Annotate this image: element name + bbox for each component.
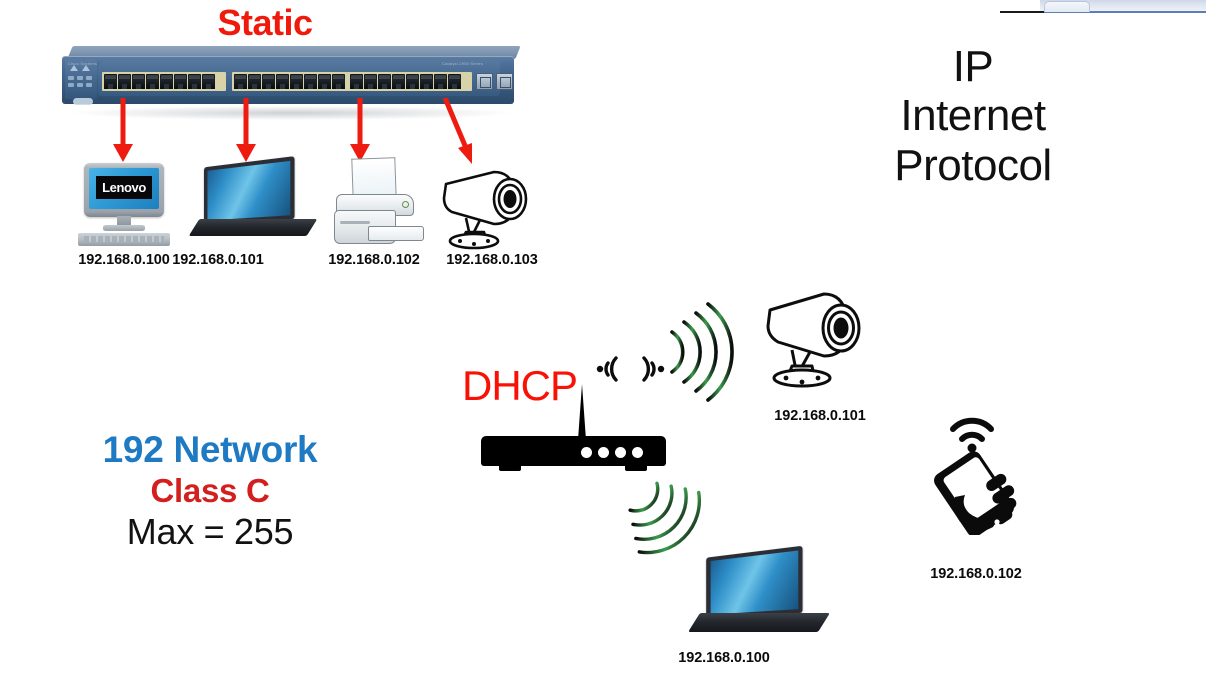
slide-canvas: Static IP Internet Protocol Cisco System… bbox=[0, 0, 1206, 684]
switch-led-2 bbox=[77, 76, 83, 80]
laptop-icon bbox=[192, 162, 318, 250]
router-foot-left bbox=[499, 465, 521, 471]
cctv-camera-icon bbox=[762, 284, 872, 396]
router-led bbox=[632, 447, 643, 458]
switch-led-5 bbox=[77, 83, 83, 87]
switch-port[interactable] bbox=[202, 74, 215, 89]
ip-label-laptop-dhcp: 192.168.0.100 bbox=[634, 650, 814, 666]
printer-icon bbox=[324, 158, 430, 250]
printer-output-tray bbox=[368, 226, 424, 241]
switch-port[interactable] bbox=[234, 74, 247, 89]
switch-led-3 bbox=[86, 76, 92, 80]
switch-port[interactable] bbox=[276, 74, 289, 89]
switch-uplink-port-2[interactable] bbox=[496, 73, 513, 90]
switch-model-label: Catalyst 2950 Series bbox=[442, 61, 483, 66]
desktop-computer-icon: Lenovo bbox=[72, 163, 176, 248]
switch-port[interactable] bbox=[364, 74, 377, 89]
connection-arrow-laptop bbox=[231, 98, 261, 164]
browser-tab[interactable] bbox=[1044, 1, 1090, 12]
phone-in-hand-icon bbox=[925, 405, 1030, 535]
printer-power-button[interactable] bbox=[402, 201, 409, 208]
switch-uplink-port-1[interactable] bbox=[476, 73, 493, 90]
connection-arrow-printer bbox=[345, 98, 375, 164]
ip-label-phone: 192.168.0.102 bbox=[896, 566, 1056, 582]
switch-port[interactable] bbox=[290, 74, 303, 89]
switch-brand-label: Cisco Systems bbox=[68, 61, 97, 66]
switch-port[interactable] bbox=[406, 74, 419, 89]
lenovo-brand-label: Lenovo bbox=[102, 180, 146, 195]
router-led bbox=[598, 447, 609, 458]
ip-expansion-block: IP Internet Protocol bbox=[838, 42, 1108, 190]
switch-port[interactable] bbox=[304, 74, 317, 89]
switch-port-group-1[interactable] bbox=[102, 72, 226, 91]
switch-port[interactable] bbox=[132, 74, 145, 89]
switch-port-group-3[interactable] bbox=[348, 72, 472, 91]
switch-port[interactable] bbox=[448, 74, 461, 89]
switch-port[interactable] bbox=[420, 74, 433, 89]
laptop-icon bbox=[692, 552, 830, 648]
printer-output-slot bbox=[340, 221, 370, 224]
ip-label-laptop-static: 192.168.0.101 bbox=[138, 252, 298, 268]
router-led bbox=[615, 447, 626, 458]
laptop-base bbox=[189, 219, 318, 236]
switch-port[interactable] bbox=[318, 74, 331, 89]
switch-port[interactable] bbox=[332, 74, 345, 89]
switch-port[interactable] bbox=[262, 74, 275, 89]
laptop-screen bbox=[207, 161, 290, 221]
max-hosts-line: Max = 255 bbox=[55, 511, 365, 553]
class-c-line: Class C bbox=[55, 472, 365, 511]
connection-arrow-desktop bbox=[108, 98, 138, 164]
class-info-block: 192 Network Class C Max = 255 bbox=[55, 428, 365, 553]
switch-port[interactable] bbox=[434, 74, 447, 89]
ip-expansion-line-2: Internet bbox=[838, 91, 1108, 140]
static-heading: Static bbox=[190, 2, 340, 44]
switch-port[interactable] bbox=[160, 74, 173, 89]
laptop-base bbox=[688, 613, 830, 632]
router-antenna bbox=[578, 384, 586, 440]
switch-port[interactable] bbox=[378, 74, 391, 89]
monitor-stand-base bbox=[103, 225, 145, 231]
wifi-waves-to-laptop bbox=[608, 468, 706, 558]
ip-label-camera-static: 192.168.0.103 bbox=[412, 252, 572, 268]
ip-expansion-line-3: Protocol bbox=[838, 141, 1108, 190]
lenovo-logo-plate: Lenovo bbox=[96, 176, 152, 199]
switch-port[interactable] bbox=[392, 74, 405, 89]
switch-port[interactable] bbox=[146, 74, 159, 89]
connection-arrow-camera bbox=[440, 98, 484, 166]
switch-port[interactable] bbox=[350, 74, 363, 89]
switch-led-4 bbox=[68, 83, 74, 87]
switch-led-1 bbox=[68, 76, 74, 80]
switch-port[interactable] bbox=[248, 74, 261, 89]
switch-port[interactable] bbox=[104, 74, 117, 89]
switch-port[interactable] bbox=[174, 74, 187, 89]
wifi-waves-to-camera bbox=[662, 298, 740, 406]
switch-port[interactable] bbox=[118, 74, 131, 89]
laptop-screen bbox=[711, 551, 799, 615]
switch-mode-button[interactable] bbox=[73, 98, 93, 105]
switch-led-6 bbox=[86, 83, 92, 87]
wifi-waves-antenna-left bbox=[590, 348, 624, 390]
ip-label-camera-dhcp: 192.168.0.101 bbox=[740, 408, 900, 424]
cctv-camera-icon bbox=[436, 162, 540, 250]
ip-expansion-line-1: IP bbox=[838, 42, 1108, 91]
router-indicator-lights bbox=[581, 447, 643, 458]
chrome-divider-rule bbox=[1000, 11, 1044, 13]
keyboard-icon bbox=[78, 233, 170, 246]
switch-port-group-2[interactable] bbox=[232, 72, 356, 91]
switch-port[interactable] bbox=[188, 74, 201, 89]
router-led bbox=[581, 447, 592, 458]
network-class-line: 192 Network bbox=[55, 428, 365, 472]
